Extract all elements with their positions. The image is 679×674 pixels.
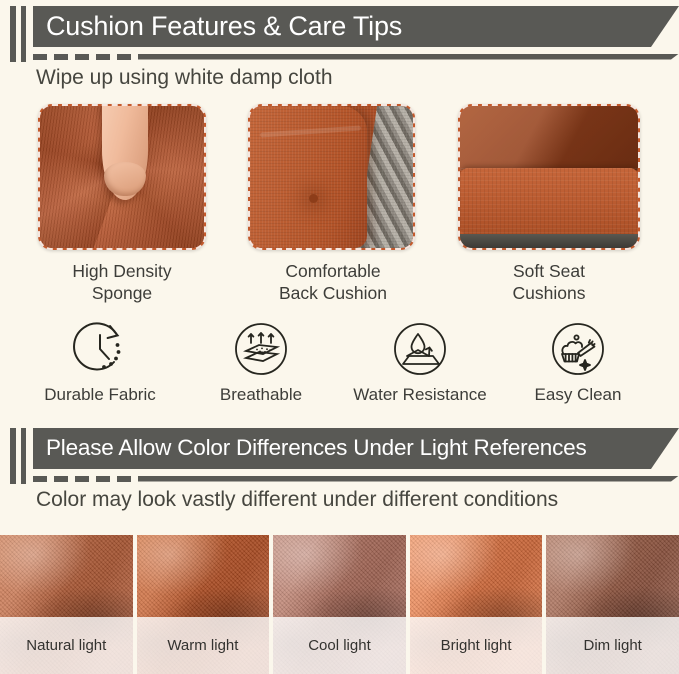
dash-rule-long (138, 54, 679, 60)
photo-comfortable-back-cushion (248, 104, 415, 250)
dash-rule-long (138, 476, 679, 482)
product-photo-row (0, 104, 679, 254)
header-accent-bars (10, 428, 32, 484)
photo-caption-2: Comfortable Back Cushion (238, 260, 428, 305)
swatch-label: Warm light (167, 637, 238, 654)
breathable-fabric-icon (188, 316, 334, 382)
swatch-bright-light: Bright light (410, 535, 543, 674)
dash-segment (33, 476, 47, 482)
feature-water-resistance: Water Resistance (344, 316, 496, 405)
feature-label: Easy Clean (502, 385, 654, 405)
caption-line: Comfortable (238, 260, 428, 282)
water-droplet-icon (344, 316, 496, 382)
swatch-label: Dim light (583, 637, 641, 654)
dash-segment (117, 476, 131, 482)
section-subtitle: Color may look vastly different under di… (36, 488, 558, 512)
dash-segment (96, 54, 110, 60)
hand-pressing-icon (102, 104, 148, 200)
swatch-cool-light: Cool light (273, 535, 406, 674)
photo-high-density-sponge (38, 104, 206, 250)
section-title-bar: Cushion Features & Care Tips (33, 6, 679, 47)
header-accent-bars (10, 6, 32, 62)
photo-content (250, 106, 413, 248)
swatch-label-band: Cool light (273, 617, 406, 674)
feature-label: Water Resistance (344, 385, 496, 405)
feature-label: Durable Fabric (22, 385, 178, 405)
photo-content (40, 106, 204, 248)
accent-bar-outer (10, 428, 16, 484)
photo-caption-3: Soft Seat Cushions (458, 260, 640, 305)
swatch-label-band: Warm light (137, 617, 270, 674)
photo-content (460, 106, 638, 248)
swatch-label: Cool light (308, 637, 371, 654)
clock-arrow-icon (22, 316, 178, 382)
feature-durable-fabric: Durable Fabric (22, 316, 178, 405)
swatch-label-band: Bright light (410, 617, 543, 674)
swatch-label: Bright light (441, 637, 512, 654)
swatch-label-band: Natural light (0, 617, 133, 674)
feature-easy-clean: Easy Clean (502, 316, 654, 405)
accent-bar-inner (21, 428, 26, 484)
dash-segment (75, 54, 89, 60)
section-title-bar: Please Allow Color Differences Under Lig… (33, 428, 679, 469)
dash-segment (117, 54, 131, 60)
dash-segment (75, 476, 89, 482)
caption-line: Cushions (458, 282, 640, 304)
section-title: Please Allow Color Differences Under Lig… (46, 437, 587, 460)
tufted-button (309, 194, 318, 203)
caption-line: Soft Seat (458, 260, 640, 282)
section-subtitle: Wipe up using white damp cloth (36, 66, 333, 90)
accent-bar-outer (10, 6, 16, 62)
photo-soft-seat-cushions (458, 104, 640, 250)
header-dash-rule (33, 53, 679, 60)
swatch-dim-light: Dim light (546, 535, 679, 674)
accent-bar-inner (21, 6, 26, 62)
dash-segment (33, 54, 47, 60)
caption-line: Sponge (38, 282, 206, 304)
feature-label: Breathable (188, 385, 334, 405)
swatch-label-band: Dim light (546, 617, 679, 674)
swatch-warm-light: Warm light (137, 535, 270, 674)
swatch-natural-light: Natural light (0, 535, 133, 674)
feature-breathable: Breathable (188, 316, 334, 405)
caption-line: High Density (38, 260, 206, 282)
infographic-page: Cushion Features & Care Tips Wipe up usi… (0, 0, 679, 674)
page-title: Cushion Features & Care Tips (46, 13, 402, 40)
furniture-base (460, 234, 638, 248)
back-cushion (460, 106, 638, 171)
header-dash-rule (33, 475, 679, 482)
cleaning-brush-icon (502, 316, 654, 382)
seat-cushion (460, 168, 638, 236)
feature-icon-row: Durable Fabric Brea (0, 316, 679, 416)
dash-segment (96, 476, 110, 482)
caption-line: Back Cushion (238, 282, 428, 304)
color-swatch-row: Natural light Warm light Cool light Brig… (0, 535, 679, 674)
dash-segment (54, 54, 68, 60)
swatch-label: Natural light (26, 637, 106, 654)
photo-caption-1: High Density Sponge (38, 260, 206, 305)
dash-segment (54, 476, 68, 482)
